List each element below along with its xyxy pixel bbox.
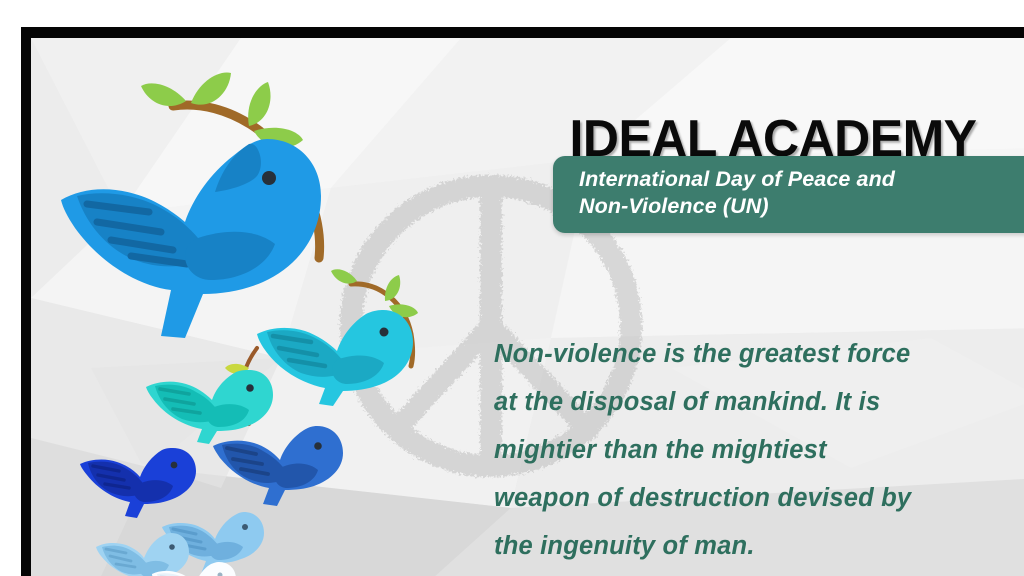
dove-eye	[314, 442, 322, 450]
quote-line: weapon of destruction devised by	[494, 474, 1024, 522]
slide-canvas: IDEAL ACADEMY International Day of Peace…	[31, 38, 1024, 576]
quote-line: the ingenuity of man.	[494, 522, 1024, 570]
dove-eye	[380, 328, 389, 337]
slide-screenshot: IDEAL ACADEMY International Day of Peace…	[0, 0, 1024, 576]
event-banner-line2: Non-Violence (UN)	[579, 193, 1024, 220]
quote-line: at the disposal of mankind. It is	[494, 378, 1024, 426]
dove-eye	[262, 171, 276, 185]
dove-eye	[169, 544, 175, 550]
quote-block: Non-violence is the greatest force at th…	[494, 330, 1024, 570]
quote-line: Non-violence is the greatest force	[494, 330, 1024, 378]
dove-eye	[242, 524, 248, 530]
event-banner: International Day of Peace and Non-Viole…	[553, 156, 1024, 233]
dove-eye	[246, 384, 254, 392]
dove-eye	[171, 462, 178, 469]
event-banner-line1: International Day of Peace and	[579, 166, 1024, 193]
quote-line: mightier than the mightiest	[494, 426, 1024, 474]
dove-white	[149, 550, 249, 576]
